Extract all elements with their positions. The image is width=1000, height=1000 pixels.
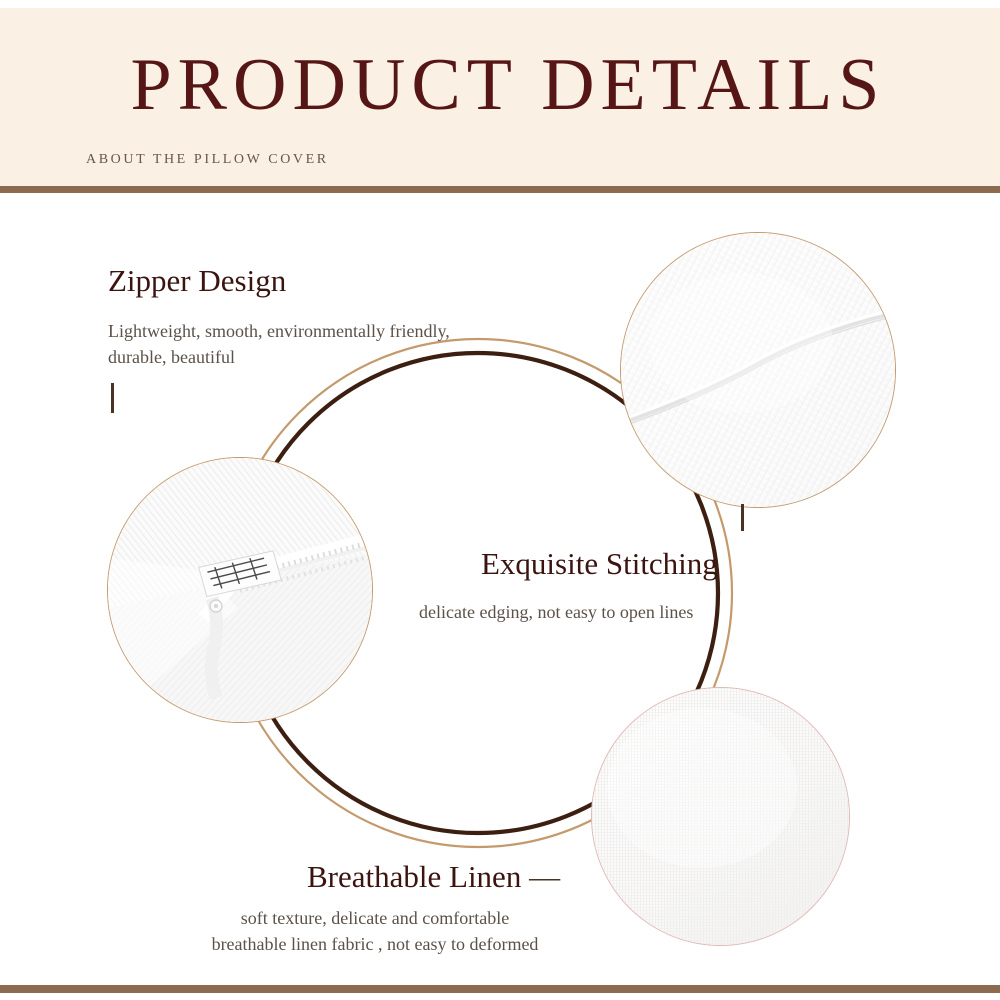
feature-description-linen: soft texture, delicate and comfortable b… xyxy=(180,905,570,957)
feature-description-stitching: delicate edging, not easy to open lines xyxy=(419,599,779,625)
feature-title-linen-wrapper: Breathable Linen — xyxy=(307,860,560,894)
feature-title-zipper: Zipper Design xyxy=(108,264,286,298)
feature-description-linen-line2: breathable linen fabric , not easy to de… xyxy=(180,931,570,957)
photo-stitching-closeup xyxy=(621,233,895,507)
feature-description-zipper: Lightweight, smooth, environmentally fri… xyxy=(108,318,508,370)
feature-title-stitching: Exquisite Stitching xyxy=(481,547,718,581)
feature-description-linen-line1: soft texture, delicate and comfortable xyxy=(180,905,570,931)
page-subtitle: ABOUT THE PILLOW COVER xyxy=(86,152,329,168)
photo-linen-closeup xyxy=(592,688,849,945)
page-title: PRODUCT DETAILS xyxy=(78,48,938,122)
footer-divider-rule xyxy=(0,985,1000,993)
accent-tick-stitching xyxy=(741,504,744,531)
feature-title-linen-dash: — xyxy=(529,859,560,894)
header-divider-rule xyxy=(0,186,1000,193)
product-details-infographic: PRODUCT DETAILS ABOUT THE PILLOW COVER xyxy=(0,0,1000,1000)
feature-title-linen: Breathable Linen xyxy=(307,859,521,894)
accent-tick-zipper xyxy=(111,383,114,413)
photo-zipper-closeup xyxy=(108,458,372,722)
